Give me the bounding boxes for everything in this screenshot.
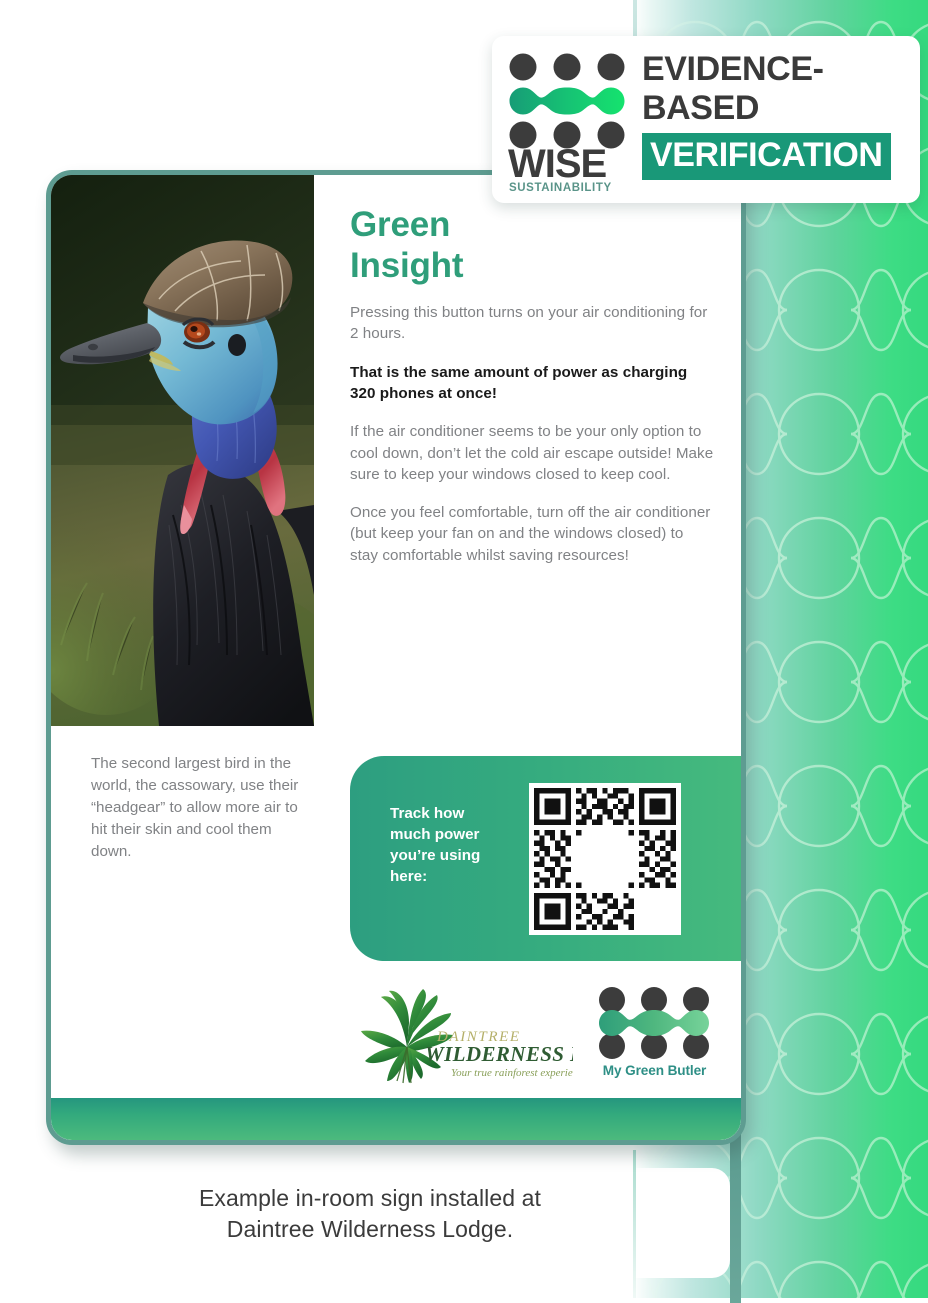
qr-code[interactable] <box>529 783 681 935</box>
page-title-line2: Insight <box>350 246 715 287</box>
footer-logos: DAINTREE WILDERNESS LODGE Your true rain… <box>51 975 741 1105</box>
daintree-wilderness-lodge-logo: DAINTREE WILDERNESS LODGE Your true rain… <box>355 983 573 1088</box>
figure-caption: Example in-room sign installed at Daintr… <box>0 1183 740 1244</box>
svg-text:WILDERNESS LODGE: WILDERNESS LODGE <box>425 1042 573 1066</box>
qr-track-power-panel: Track how much power you’re using here: <box>350 756 746 961</box>
my-green-butler-logo: My Green Butler <box>592 985 717 1089</box>
paragraph-wrapup: Once you feel comfortable, turn off the … <box>350 502 715 566</box>
badge-text-block: EVIDENCE- BASED VERIFICATION <box>642 50 910 180</box>
cassowary-head-photo <box>51 175 314 726</box>
figure-caption-line1: Example in-room sign installed at <box>0 1183 740 1214</box>
svg-text:WISE: WISE <box>508 142 607 186</box>
photo-caption: The second largest bird in the world, th… <box>91 753 316 862</box>
figure-caption-line2: Daintree Wilderness Lodge. <box>0 1214 740 1245</box>
evidence-based-verification-badge: WISE SUSTAINABILITY EVIDENCE- BASED VERI… <box>492 36 920 203</box>
paragraph-comparison: That is the same amount of power as char… <box>350 362 715 405</box>
in-room-sign-card: Green Insight Pressing this button turns… <box>46 170 746 1145</box>
badge-line-1: EVIDENCE- <box>642 50 910 89</box>
sign-text-column: Green Insight Pressing this button turns… <box>350 205 715 583</box>
my-green-butler-label: My Green Butler <box>592 1063 717 1078</box>
svg-text:Your true rainforest experienc: Your true rainforest experience <box>451 1067 573 1079</box>
page-title: Green Insight <box>350 205 715 286</box>
badge-line-2: BASED <box>642 89 910 128</box>
page-title-line1: Green <box>350 205 715 246</box>
qr-panel-label: Track how much power you’re using here: <box>390 804 500 888</box>
card-inner-surface: Green Insight Pressing this button turns… <box>51 175 741 1140</box>
svg-text:SUSTAINABILITY: SUSTAINABILITY <box>509 182 612 193</box>
verification-tag: VERIFICATION <box>642 133 891 180</box>
card-bottom-bar <box>51 1098 741 1140</box>
paragraph-advice: If the air conditioner seems to be your … <box>350 421 715 485</box>
wise-sustainability-logo: WISE SUSTAINABILITY <box>506 51 634 193</box>
paragraph-intro: Pressing this button turns on your air c… <box>350 302 715 345</box>
